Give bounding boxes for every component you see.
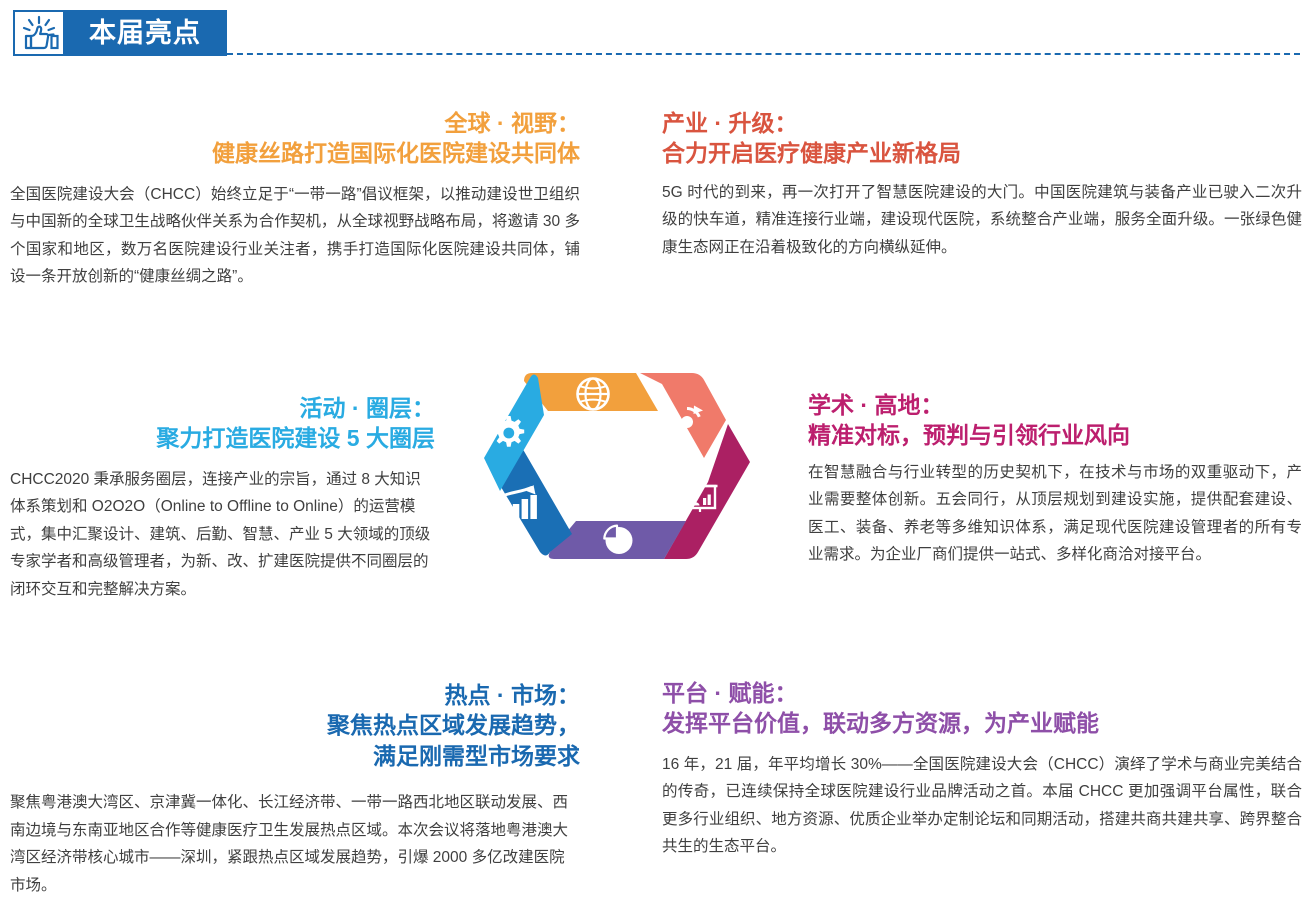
section-academic: 学术 · 高地： 精准对标，预判与引领行业风向 在智慧融合与行业转型的历史契机下… xyxy=(808,390,1302,569)
thumbs-up-icon xyxy=(13,10,65,56)
hexagon-diagram xyxy=(452,303,782,628)
section-activity-headline: 聚力打造医院建设 5 大圈层 xyxy=(10,423,435,453)
hexagon-segment-bottom xyxy=(549,521,686,559)
hexagon-segment-top-right xyxy=(640,373,726,458)
section-industry: 产业 · 升级： 合力开启医疗健康产业新格局 5G 时代的到来，再一次打开了智慧… xyxy=(662,108,1302,261)
section-platform-body: 16 年，21 届，年平均增长 30%——全国医院建设大会（CHCC）演绎了学术… xyxy=(662,751,1302,861)
section-global: 全球 · 视野： 健康丝路打造国际化医院建设共同体 全国医院建设大会（CHCC）… xyxy=(10,108,580,291)
section-global-eyebrow: 全球 · 视野： xyxy=(10,108,580,138)
section-platform-eyebrow: 平台 · 赋能： xyxy=(662,678,1302,708)
section-academic-headline: 精准对标，预判与引领行业风向 xyxy=(808,420,1302,450)
section-industry-eyebrow: 产业 · 升级： xyxy=(662,108,1302,138)
section-hotspot: 热点 · 市场： 聚焦热点区域发展趋势， 满足刚需型市场要求 聚焦粤港澳大湾区、… xyxy=(10,680,580,899)
page-title: 本届亮点 xyxy=(89,20,201,47)
section-global-body: 全国医院建设大会（CHCC）始终立足于“一带一路”倡议框架，以推动建设世卫组织与… xyxy=(10,181,580,291)
section-activity: 活动 · 圈层： 聚力打造医院建设 5 大圈层 CHCC2020 秉承服务圈层，… xyxy=(10,393,435,604)
section-hotspot-headline-line1: 聚焦热点区域发展趋势， xyxy=(10,710,580,740)
section-activity-eyebrow: 活动 · 圈层： xyxy=(10,393,435,423)
page-header: 本届亮点 xyxy=(0,0,1312,78)
hexagon-segment-top xyxy=(524,373,658,411)
section-academic-eyebrow: 学术 · 高地： xyxy=(808,390,1302,420)
section-platform: 平台 · 赋能： 发挥平台价值，联动多方资源，为产业赋能 16 年，21 届，年… xyxy=(662,678,1302,861)
section-activity-body: CHCC2020 秉承服务圈层，连接产业的宗旨，通过 8 大知识体系策划和 O2… xyxy=(10,466,435,604)
section-industry-headline: 合力开启医疗健康产业新格局 xyxy=(662,138,1302,168)
section-hotspot-body: 聚焦粤港澳大湾区、京津冀一体化、长江经济带、一带一路西北地区联动发展、西南边境与… xyxy=(10,789,580,899)
section-academic-body: 在智慧融合与行业转型的历史契机下，在技术与市场的双重驱动下，产业需要整体创新。五… xyxy=(808,459,1302,569)
section-hotspot-headline-line2: 满足刚需型市场要求 xyxy=(10,741,580,771)
section-hotspot-eyebrow: 热点 · 市场： xyxy=(10,680,580,710)
section-platform-headline: 发挥平台价值，联动多方资源，为产业赋能 xyxy=(662,708,1302,738)
section-global-headline: 健康丝路打造国际化医院建设共同体 xyxy=(10,138,580,168)
section-industry-body: 5G 时代的到来，再一次打开了智慧医院建设的大门。中国医院建筑与装备产业已驶入二… xyxy=(662,179,1302,262)
gear-icon xyxy=(493,416,524,447)
header-title-bar: 本届亮点 xyxy=(63,10,227,56)
header-divider xyxy=(227,53,1300,55)
